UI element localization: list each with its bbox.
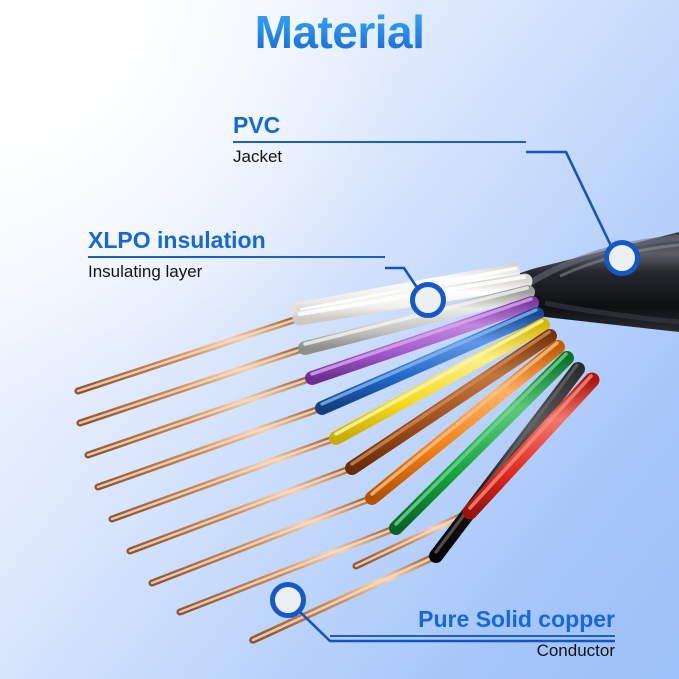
callout-pvc-subtitle: Jacket [233,146,526,169]
callout-copper-subtitle: Conductor [330,640,615,663]
callout-copper-heading: Pure Solid copper [330,607,615,633]
callout-copper-rule [330,635,615,637]
callout-xlpo-heading: XLPO insulation [88,228,385,254]
callout-pvc-rule [233,141,526,143]
callout-xlpo: XLPO insulation Insulating layer [88,228,385,284]
marker-copper [273,585,304,616]
material-infographic: Material [0,0,679,679]
callout-pvc-heading: PVC [233,113,526,139]
insulated-wires [300,277,592,556]
callout-xlpo-subtitle: Insulating layer [88,261,385,284]
marker-pvc [607,243,638,274]
cable-illustration [0,0,679,679]
callout-pvc: PVC Jacket [233,113,526,169]
callout-copper: Pure Solid copper Conductor [330,607,615,663]
callout-xlpo-rule [88,256,385,258]
marker-xlpo [413,285,444,316]
leader-line-pvc [526,152,613,250]
